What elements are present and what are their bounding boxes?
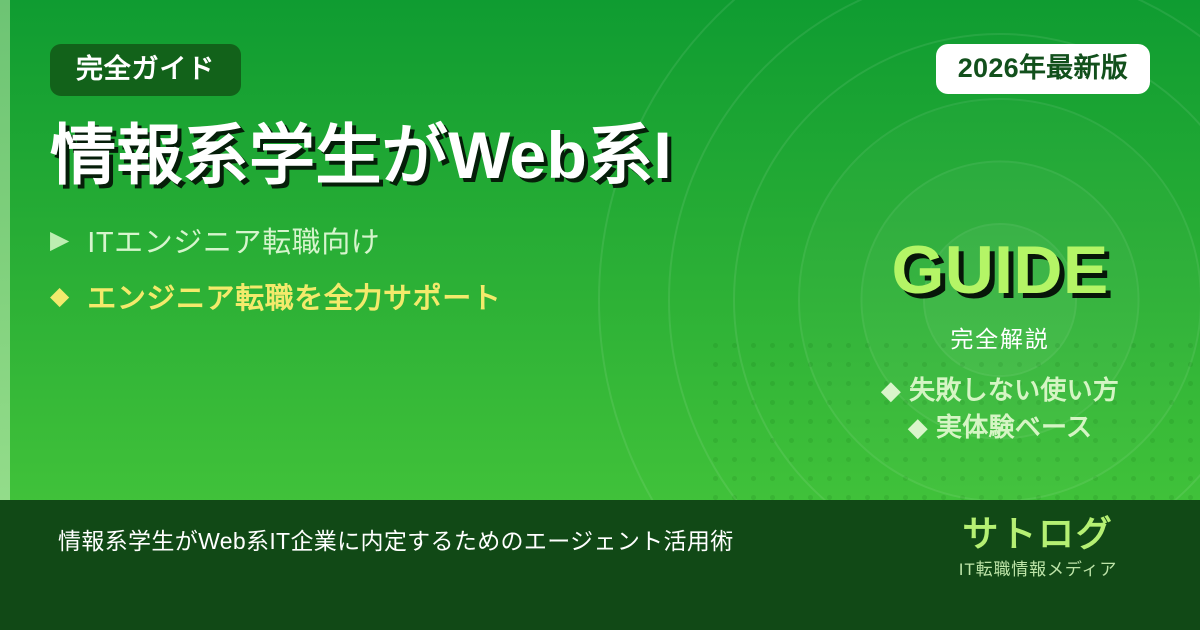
triangle-bullet-icon: ▶ xyxy=(50,228,69,253)
hero-bullet-label-2: エンジニア転職を全力サポート xyxy=(87,275,501,317)
diamond-bullet-icon: ◆ xyxy=(881,375,901,405)
year-badge: 2026年最新版 xyxy=(936,44,1150,94)
hero-bullet-item-1: ▶ ITエンジニア転職向け xyxy=(50,219,770,261)
page-title: 情報系学生がWeb系I xyxy=(50,118,750,193)
side-panel-point-label-1: 失敗しない使い方 xyxy=(909,375,1119,405)
side-panel-point-2: ◆実体験ベース xyxy=(830,409,1170,446)
hero-bullet-item-2: ◆ エンジニア転職を全力サポート xyxy=(50,275,770,317)
hero-bullet-label-1: ITエンジニア転職向け xyxy=(87,219,380,261)
side-panel-subhead: 完全解説 xyxy=(830,320,1170,354)
hero-banner: 2026年最新版 完全ガイド 情報系学生がWeb系I ▶ ITエンジニア転職向け… xyxy=(0,0,1200,630)
footer-caption: 情報系学生がWeb系IT企業に内定するためのエージェント活用術 xyxy=(58,522,734,556)
side-panel-point-label-2: 実体験ベース xyxy=(936,412,1092,442)
footer-bar: 情報系学生がWeb系IT企業に内定するためのエージェント活用術 サトログ IT転… xyxy=(0,500,1200,630)
brand-name: サトログ xyxy=(918,513,1158,554)
side-panel: GUIDE 完全解説 ◆失敗しない使い方 ◆実体験ベース xyxy=(830,236,1170,446)
left-accent-strip xyxy=(0,0,10,500)
diamond-bullet-icon: ◆ xyxy=(50,284,69,309)
hero-bullet-list: ▶ ITエンジニア転職向け ◆ エンジニア転職を全力サポート xyxy=(50,219,770,317)
side-panel-point-1: ◆失敗しない使い方 xyxy=(830,372,1170,409)
brand-tagline: IT転職情報メディア xyxy=(918,555,1158,580)
side-panel-point-list: ◆失敗しない使い方 ◆実体験ベース xyxy=(830,372,1170,446)
brand-block: サトログ IT転職情報メディア xyxy=(918,513,1158,580)
diamond-bullet-icon: ◆ xyxy=(908,412,928,442)
guide-badge: 完全ガイド xyxy=(50,44,241,96)
side-panel-headline: GUIDE xyxy=(830,236,1170,304)
hero-content: 完全ガイド 情報系学生がWeb系I ▶ ITエンジニア転職向け ◆ エンジニア転… xyxy=(50,0,770,331)
